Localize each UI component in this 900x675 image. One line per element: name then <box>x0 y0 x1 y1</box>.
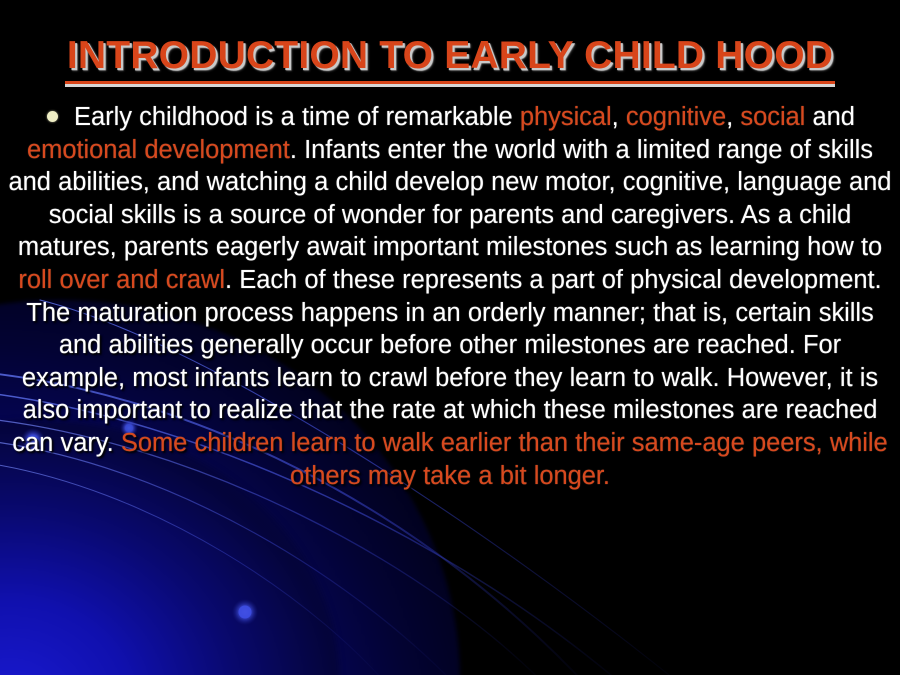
body-paragraph: Early childhood is a time of remarkable … <box>8 101 892 492</box>
text-run: , <box>612 103 626 131</box>
highlighted-text-run: roll over and crawl <box>18 266 225 294</box>
text-run: and <box>805 103 855 131</box>
presentation-slide: INTRODUCTION TO EARLY CHILD HOOD Early c… <box>0 0 900 675</box>
title-block: INTRODUCTION TO EARLY CHILD HOOD <box>0 8 900 110</box>
bullet-dot-icon <box>47 111 58 122</box>
highlighted-text-run: physical <box>520 103 612 131</box>
body-block: Early childhood is a time of remarkable … <box>8 101 892 492</box>
highlighted-text-run: emotional development <box>27 136 290 164</box>
text-run: , <box>726 103 740 131</box>
body-text-runs: Early childhood is a time of remarkable … <box>9 103 892 490</box>
text-run: Early childhood is a time of remarkable <box>74 103 520 131</box>
slide-title: INTRODUCTION TO EARLY CHILD HOOD <box>65 34 835 84</box>
highlighted-text-run: cognitive <box>626 103 726 131</box>
highlighted-text-run: social <box>740 103 805 131</box>
highlighted-text-run: Some children learn to walk earlier than… <box>121 429 888 490</box>
